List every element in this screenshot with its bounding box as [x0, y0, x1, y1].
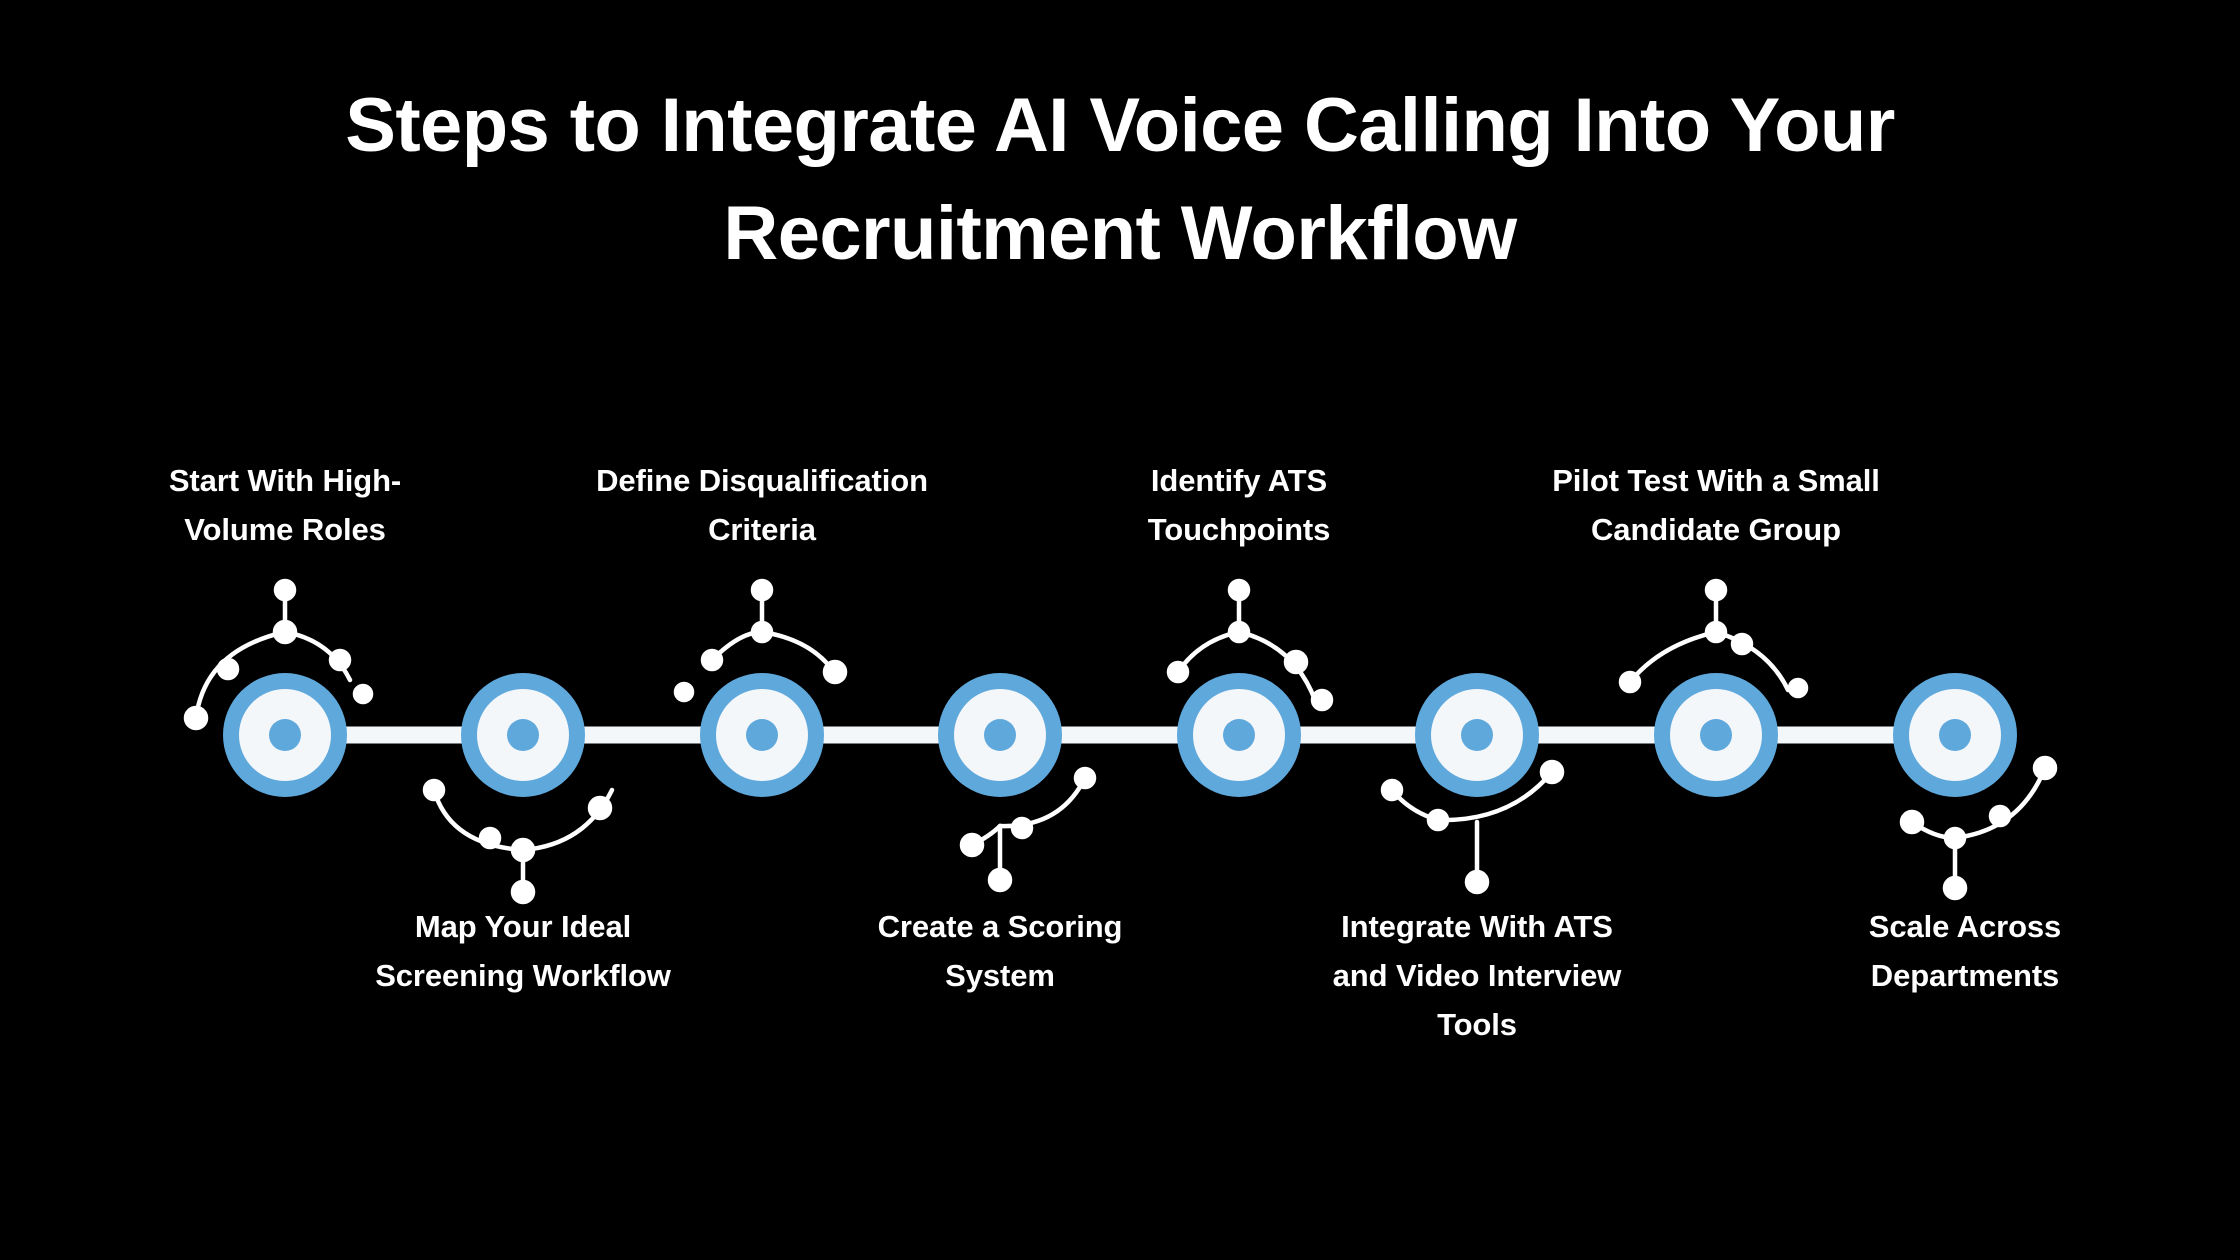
step-label-3: Define Disqualification Criteria — [532, 456, 992, 554]
timeline-node-5[interactable] — [1177, 673, 1301, 797]
timeline-node-8[interactable] — [1893, 673, 2017, 797]
timeline-node-1[interactable] — [223, 673, 347, 797]
steps-timeline: Start With High- Volume Roles Define Dis… — [0, 0, 2240, 1260]
step-label-6: Integrate With ATS and Video Interview T… — [1277, 902, 1677, 1049]
step-label-5: Identify ATS Touchpoints — [1049, 456, 1429, 554]
step-label-7: Pilot Test With a Small Candidate Group — [1491, 456, 1941, 554]
step-label-1: Start With High- Volume Roles — [85, 456, 485, 554]
step-label-2: Map Your Ideal Screening Workflow — [303, 902, 743, 1000]
decor-arc-2 — [425, 781, 612, 902]
timeline-node-7[interactable] — [1654, 673, 1778, 797]
timeline-node-6[interactable] — [1415, 673, 1539, 797]
infographic-canvas: Steps to Integrate AI Voice Calling Into… — [0, 0, 2240, 1260]
step-label-4: Create a Scoring System — [820, 902, 1180, 1000]
timeline-graphic — [0, 0, 2240, 1260]
timeline-node-3[interactable] — [700, 673, 824, 797]
timeline-node-2[interactable] — [461, 673, 585, 797]
timeline-node-4[interactable] — [938, 673, 1062, 797]
step-label-8: Scale Across Departments — [1795, 902, 2135, 1000]
